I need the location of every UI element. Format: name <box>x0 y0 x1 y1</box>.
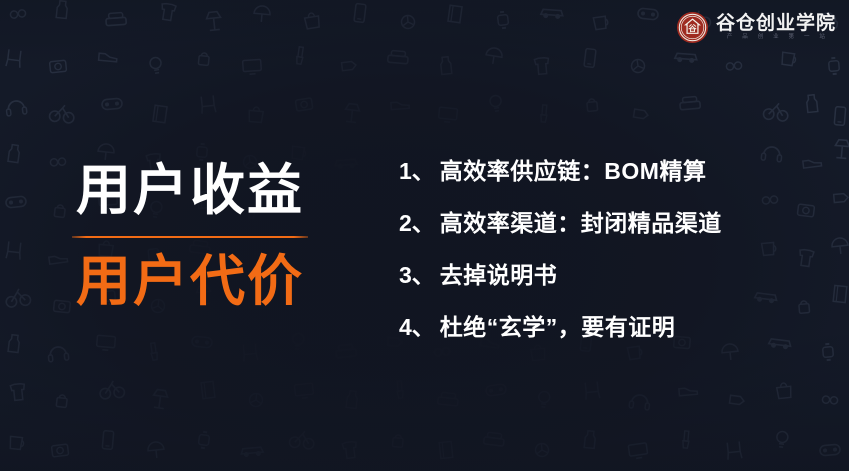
list-item-number: 2、 <box>399 204 435 238</box>
list-item-number: 1、 <box>399 152 435 186</box>
logo-name: 谷仓创业学院 <box>716 14 836 34</box>
list-item-text: 高效率供应链：BOM精算 <box>440 152 707 186</box>
heading-block: 用户收益 用户代价 <box>0 160 380 312</box>
logo-text-block: 谷仓创业学院 产 品 创 业 第 一 站 <box>716 14 836 40</box>
logo-subtitle: 产 品 创 业 第 一 站 <box>727 35 829 41</box>
points-list: 1、 高效率供应链：BOM精算 2、 高效率渠道：封闭精品渠道 3、 去掉说明书… <box>399 152 839 360</box>
list-item-number: 3、 <box>399 256 435 290</box>
list-item-text: 去掉说明书 <box>440 256 558 290</box>
svg-text:谷: 谷 <box>687 23 697 33</box>
slide-content: 谷 谷仓创业学院 产 品 创 业 第 一 站 用户收益 用户代价 1、 高效率供… <box>0 0 849 471</box>
logo-seal-icon: 谷 <box>676 11 709 44</box>
heading-divider <box>72 236 308 238</box>
list-item: 4、 杜绝“玄学”，要有证明 <box>399 308 839 360</box>
list-item-text: 高效率渠道：封闭精品渠道 <box>440 204 722 238</box>
heading-line-cost: 用户代价 <box>0 251 380 313</box>
list-item: 1、 高效率供应链：BOM精算 <box>399 152 839 204</box>
list-item-number: 4、 <box>399 308 435 342</box>
list-item-text: 杜绝“玄学”，要有证明 <box>440 308 676 342</box>
list-item: 2、 高效率渠道：封闭精品渠道 <box>399 204 839 256</box>
slide-root: 谷 谷仓创业学院 产 品 创 业 第 一 站 用户收益 用户代价 1、 高效率供… <box>0 0 849 471</box>
brand-logo: 谷 谷仓创业学院 产 品 创 业 第 一 站 <box>676 11 836 44</box>
heading-line-benefit: 用户收益 <box>0 160 380 222</box>
list-item: 3、 去掉说明书 <box>399 256 839 308</box>
